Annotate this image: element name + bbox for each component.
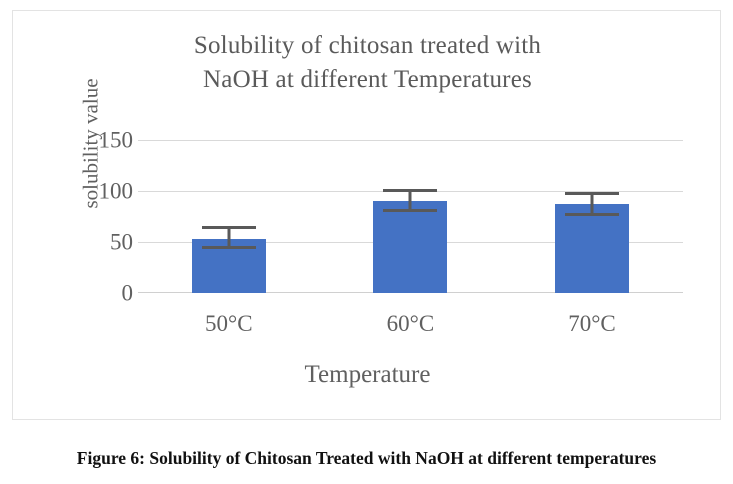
chart-frame: Solubility of chitosan treated with NaOH…: [12, 10, 721, 420]
error-bar-60c: [383, 189, 437, 213]
error-bar-50c: [202, 226, 256, 250]
error-bar-cap-bottom: [202, 246, 256, 249]
y-tick-label-150: 150: [63, 129, 133, 152]
error-bar-cap-top: [565, 192, 619, 195]
y-tick-label-100: 100: [63, 180, 133, 203]
x-axis-title: Temperature: [13, 361, 722, 389]
error-bar-cap-bottom: [383, 209, 437, 212]
y-tick-label-0: 0: [63, 282, 133, 305]
error-bar-cap-top: [202, 226, 256, 229]
x-tick-label-60c: 60°C: [387, 311, 435, 337]
y-tick-label-50: 50: [63, 231, 133, 254]
bar-60c[interactable]: [373, 201, 447, 293]
chart-title-line-2: NaOH at different Temperatures: [13, 63, 722, 97]
chart-title-line-1: Solubility of chitosan treated with: [13, 29, 722, 63]
plot-area: [138, 140, 683, 293]
figure-caption: Figure 6: Solubility of Chitosan Treated…: [0, 448, 733, 469]
x-tick-label-50c: 50°C: [205, 311, 253, 337]
error-bar-cap-bottom: [565, 213, 619, 216]
figure-page: Solubility of chitosan treated with NaOH…: [0, 0, 733, 484]
bar-slot-50c: [138, 140, 320, 293]
x-axis-ticks: 50°C 60°C 70°C: [138, 311, 683, 345]
error-bar-cap-top: [383, 189, 437, 192]
y-axis-ticks: 150 100 50 0: [53, 140, 133, 293]
chart-title: Solubility of chitosan treated with NaOH…: [13, 29, 722, 97]
bar-70c[interactable]: [555, 204, 629, 293]
bar-slot-70c: [501, 140, 683, 293]
x-tick-label-70c: 70°C: [568, 311, 616, 337]
bar-slot-60c: [320, 140, 502, 293]
error-bar-70c: [565, 192, 619, 216]
